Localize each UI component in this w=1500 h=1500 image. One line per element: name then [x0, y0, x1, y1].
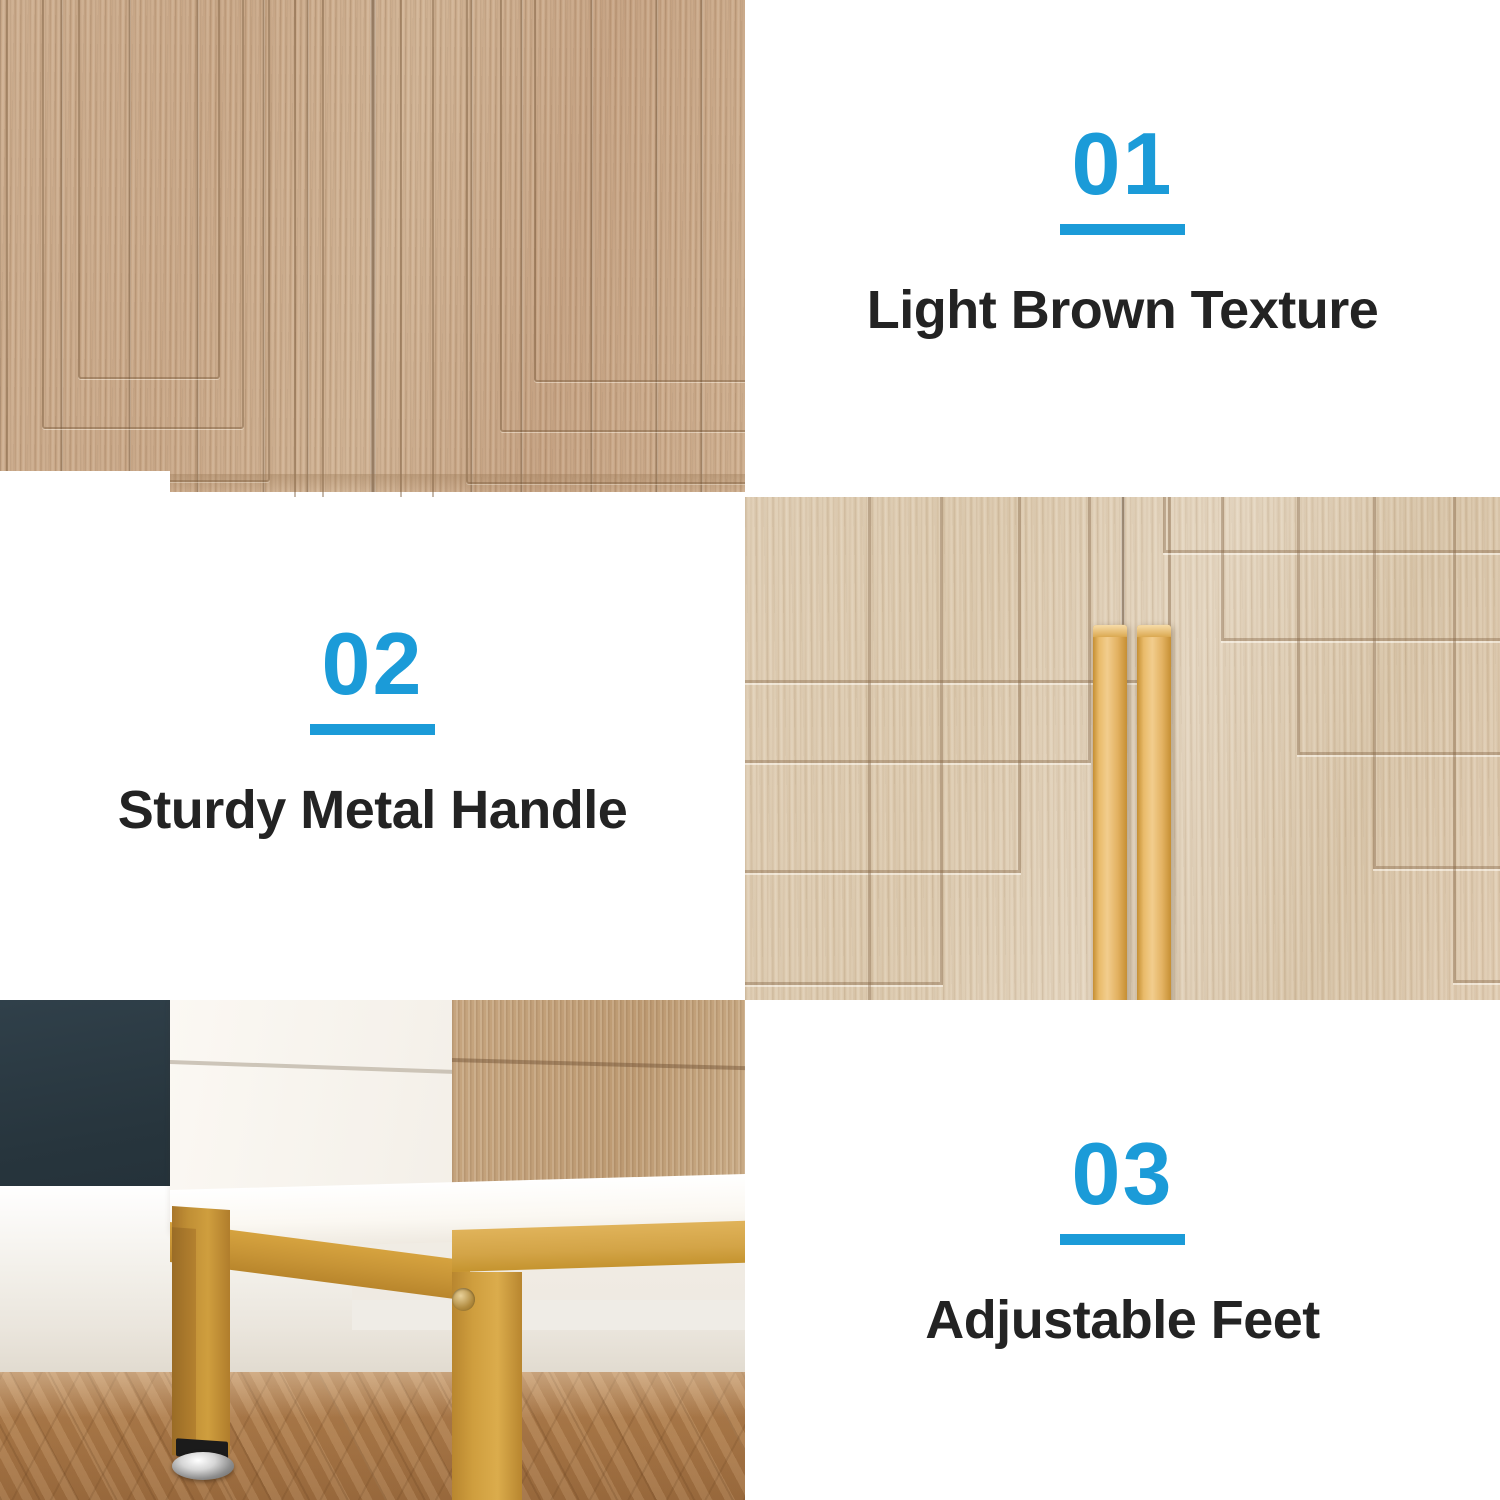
gold-leg-left-inner-face [172, 1227, 196, 1457]
handle-top-bevel [1137, 625, 1171, 637]
frame-screw [452, 1288, 475, 1311]
cabinet-handle-right[interactable] [1137, 625, 1171, 1000]
wood-surface [745, 497, 1500, 1000]
cabinet-doors-texture-photo [0, 0, 745, 497]
feature-title-01: Light Brown Texture [867, 279, 1379, 341]
handle-top-bevel [1093, 625, 1127, 637]
adjustable-foot-left[interactable] [172, 1452, 234, 1480]
wood-surface [0, 0, 745, 492]
engraved-groove [1453, 497, 1500, 983]
feature-number-03: 03 [1072, 1130, 1174, 1218]
floor-reflection [0, 1372, 745, 1418]
cabinet-handle-left[interactable] [1093, 625, 1127, 1000]
number-underline-02 [310, 724, 435, 735]
photo-white-edge [0, 471, 170, 497]
feature-number-02: 02 [322, 620, 424, 708]
feature-infographic: 01 Light Brown Texture 02 Sturdy Metal H… [0, 0, 1500, 1500]
adjustable-feet-photo [0, 1000, 745, 1500]
engraved-groove [534, 0, 745, 382]
gold-handle-photo [745, 497, 1500, 1000]
feature-caption-02: 02 Sturdy Metal Handle [0, 497, 745, 1000]
number-underline-01 [1060, 224, 1185, 235]
door-center-gap [370, 0, 376, 492]
cabinet-wood-door [452, 1000, 745, 1200]
feature-title-03: Adjustable Feet [925, 1289, 1320, 1351]
caption-block-03: 03 Adjustable Feet [745, 1130, 1500, 1351]
engraved-groove [78, 0, 220, 379]
caption-block-02: 02 Sturdy Metal Handle [0, 620, 745, 841]
engraved-groove [745, 497, 871, 1000]
feature-caption-01: 01 Light Brown Texture [745, 0, 1500, 497]
feature-title-02: Sturdy Metal Handle [118, 779, 628, 841]
room-scene [0, 1000, 745, 1500]
caption-block-01: 01 Light Brown Texture [745, 120, 1500, 341]
number-underline-03 [1060, 1234, 1185, 1245]
feature-number-01: 01 [1072, 120, 1174, 208]
feature-caption-03: 03 Adjustable Feet [745, 1000, 1500, 1500]
